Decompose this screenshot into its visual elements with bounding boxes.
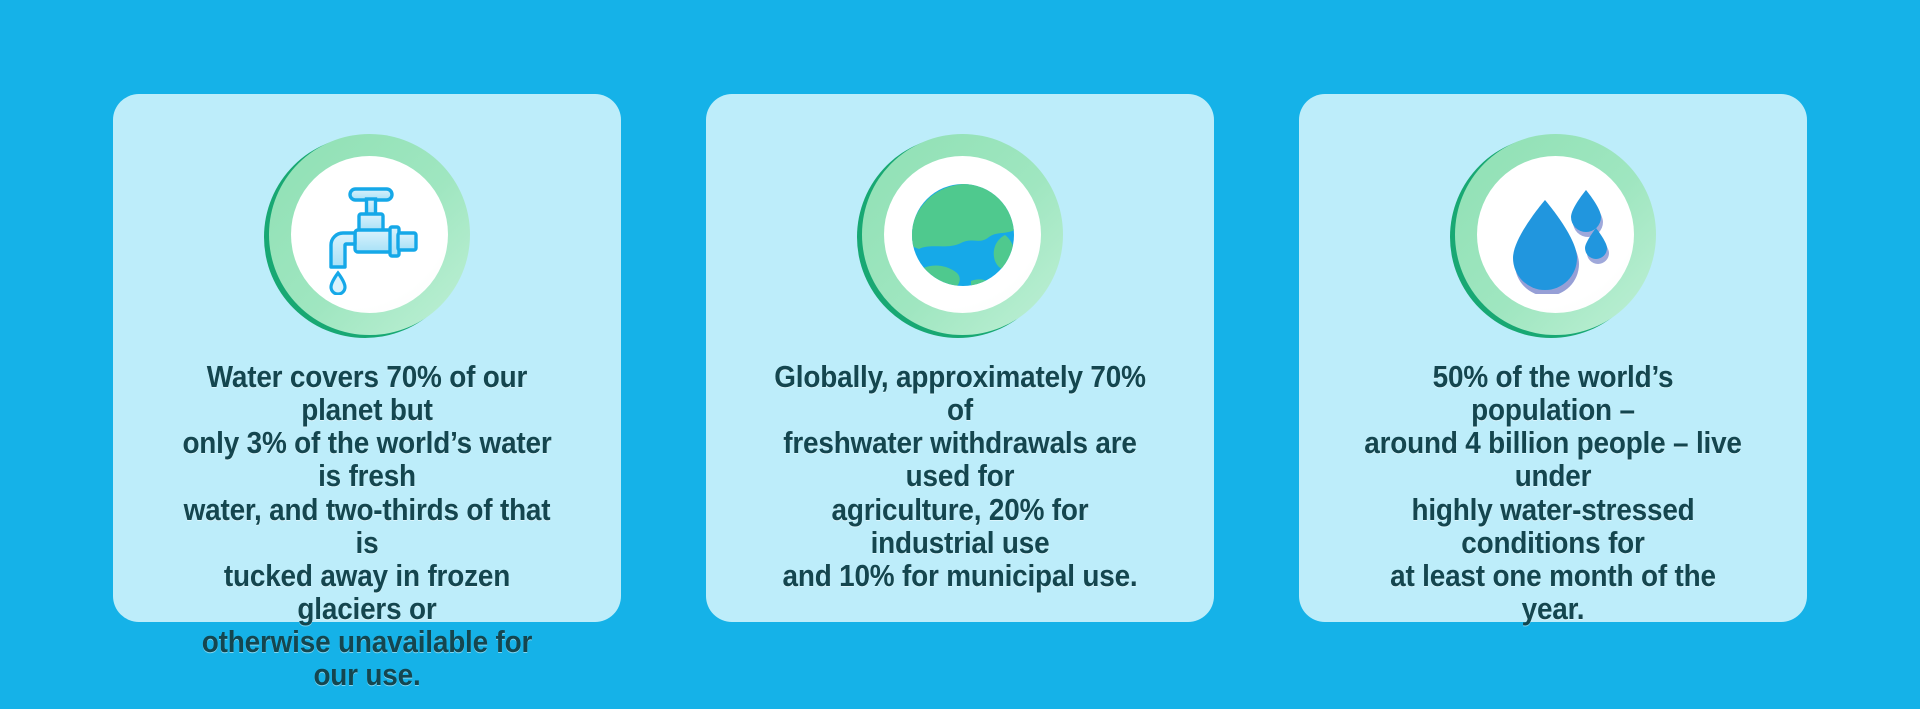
badge-inner-circle (291, 156, 448, 313)
fact-card-water-stress: 50% of the world’s population – around 4… (1299, 94, 1807, 622)
fact-card-water-coverage: Water covers 70% of our planet but only … (113, 94, 621, 622)
icon-badge-globe (857, 134, 1063, 340)
fact-card-text: Water covers 70% of our planet but only … (178, 360, 556, 692)
icon-badge-droplets (1450, 134, 1656, 340)
fact-cards-row: Water covers 70% of our planet but only … (0, 0, 1920, 709)
faucet-icon (310, 175, 430, 295)
infographic-canvas: Water covers 70% of our planet but only … (0, 0, 1920, 709)
icon-badge-faucet (264, 134, 470, 340)
globe-icon (901, 173, 1025, 297)
fact-card-text: Globally, approximately 70% of freshwate… (771, 360, 1149, 592)
fact-card-text: 50% of the world’s population – around 4… (1364, 360, 1742, 625)
water-droplets-icon (1497, 176, 1615, 294)
badge-inner-circle (884, 156, 1041, 313)
badge-inner-circle (1477, 156, 1634, 313)
fact-card-freshwater-withdrawals: Globally, approximately 70% of freshwate… (706, 94, 1214, 622)
